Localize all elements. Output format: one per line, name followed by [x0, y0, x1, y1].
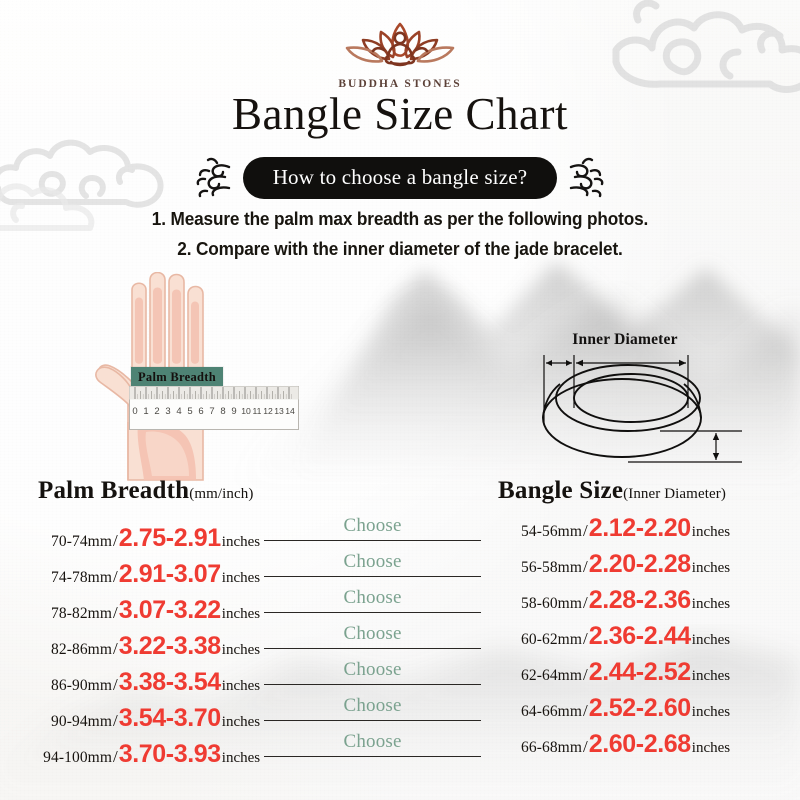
palm-breadth-table: Palm Breadth(mm/inch) 70-74mm/2.75-2.91i…	[26, 477, 481, 768]
row-mm-range: 56-58mm	[498, 559, 582, 577]
row-inch-unit: inches	[691, 704, 730, 721]
table-row: 62-64mm/2.44-2.52inches	[498, 660, 788, 696]
table-row: 56-58mm/2.20-2.28inches	[498, 552, 788, 588]
row-inch-range: 2.52-2.60	[589, 696, 691, 721]
row-inch-unit: inches	[691, 632, 730, 649]
row-inch-unit: inches	[221, 606, 260, 623]
choose-connector[interactable]: Choose	[264, 660, 481, 690]
row-mm-range: 66-68mm	[498, 739, 582, 757]
connector-line	[264, 684, 481, 685]
bangle-size-rows: 54-56mm/2.12-2.20inches56-58mm/2.20-2.28…	[498, 516, 788, 768]
row-inch-range: 2.75-2.91	[119, 526, 221, 551]
row-mm-range: 62-64mm	[498, 667, 582, 685]
row-separator: /	[112, 603, 119, 623]
choose-button[interactable]: Choose	[343, 695, 401, 717]
table-row[interactable]: 78-82mm/3.07-3.22inchesChoose	[26, 588, 481, 624]
connector-line	[264, 720, 481, 721]
svg-text:8: 8	[220, 406, 225, 417]
svg-text:2: 2	[154, 406, 159, 417]
row-mm-range: 70-74mm	[26, 533, 112, 551]
row-inch-range: 2.20-2.28	[589, 552, 691, 577]
row-separator: /	[582, 557, 589, 577]
choose-connector[interactable]: Choose	[264, 696, 481, 726]
row-inch-range: 3.07-3.22	[119, 598, 221, 623]
row-inch-range: 3.54-3.70	[119, 706, 221, 731]
instructions: 1. Measure the palm max breadth as per t…	[0, 204, 800, 264]
table-row[interactable]: 74-78mm/2.91-3.07inchesChoose	[26, 552, 481, 588]
brand-logo: BUDDHA STONES	[0, 14, 800, 90]
svg-text:9: 9	[231, 406, 236, 417]
table-row[interactable]: 90-94mm/3.54-3.70inchesChoose	[26, 696, 481, 732]
bangle-ring-icon	[500, 330, 750, 475]
svg-text:14: 14	[285, 406, 295, 416]
palm-breadth-header: Palm Breadth(mm/inch)	[26, 477, 481, 505]
row-mm-range: 54-56mm	[498, 523, 582, 541]
palm-breadth-header-sub: (mm/inch)	[189, 486, 253, 502]
row-mm-range: 78-82mm	[26, 605, 112, 623]
connector-line	[264, 612, 481, 613]
choose-connector[interactable]: Choose	[264, 552, 481, 582]
palm-breadth-header-main: Palm Breadth	[38, 477, 189, 504]
row-inch-unit: inches	[221, 534, 260, 551]
svg-text:12: 12	[263, 406, 273, 416]
row-inch-range: 3.70-3.93	[119, 742, 221, 767]
instruction-line-1: 1. Measure the palm max breadth as per t…	[28, 204, 772, 234]
row-inch-unit: inches	[221, 570, 260, 587]
svg-text:0: 0	[132, 406, 137, 417]
bangle-size-header-sub: (Inner Diameter)	[623, 486, 726, 502]
table-row: 58-60mm/2.28-2.36inches	[498, 588, 788, 624]
choose-connector[interactable]: Choose	[264, 588, 481, 618]
table-row: 54-56mm/2.12-2.20inches	[498, 516, 788, 552]
row-mm-range: 94-100mm	[26, 749, 112, 767]
choose-button[interactable]: Choose	[343, 731, 401, 753]
svg-text:7: 7	[209, 406, 214, 417]
bangle-size-header: Bangle Size(Inner Diameter)	[498, 477, 788, 505]
choose-button[interactable]: Choose	[343, 515, 401, 537]
row-separator: /	[112, 711, 119, 731]
svg-text:3: 3	[165, 406, 170, 417]
row-inch-unit: inches	[691, 524, 730, 541]
row-separator: /	[582, 629, 589, 649]
choose-connector[interactable]: Choose	[264, 732, 481, 762]
row-mm-range: 86-90mm	[26, 677, 112, 695]
row-mm-range: 82-86mm	[26, 641, 112, 659]
row-separator: /	[582, 737, 589, 757]
table-row: 66-68mm/2.60-2.68inches	[498, 732, 788, 768]
row-inch-unit: inches	[691, 668, 730, 685]
svg-text:13: 13	[274, 406, 284, 416]
row-mm-range: 64-66mm	[498, 703, 582, 721]
connector-line	[264, 648, 481, 649]
banner-row: How to choose a bangle size?	[0, 155, 800, 201]
svg-text:1: 1	[143, 406, 148, 417]
row-mm-range: 74-78mm	[26, 569, 112, 587]
svg-text:10: 10	[241, 406, 251, 416]
size-tables: Palm Breadth(mm/inch) 70-74mm/2.75-2.91i…	[0, 477, 800, 797]
row-mm-range: 90-94mm	[26, 713, 112, 731]
svg-text:6: 6	[198, 406, 203, 417]
table-row[interactable]: 82-86mm/3.22-3.38inchesChoose	[26, 624, 481, 660]
choose-connector[interactable]: Choose	[264, 624, 481, 654]
row-inch-unit: inches	[691, 740, 730, 757]
flourish-ornament-icon-left	[195, 155, 235, 201]
page-title: Bangle Size Chart	[0, 88, 800, 140]
svg-text:4: 4	[176, 406, 181, 417]
bangle-size-table: Bangle Size(Inner Diameter) 54-56mm/2.12…	[498, 477, 788, 768]
banner-text: How to choose a bangle size?	[243, 157, 558, 199]
choose-button[interactable]: Choose	[343, 659, 401, 681]
row-separator: /	[112, 639, 119, 659]
svg-text:11: 11	[253, 406, 262, 416]
row-separator: /	[112, 675, 119, 695]
ruler-icon: 012 345 678 910 1112 1314	[129, 386, 299, 430]
palm-breadth-rows: 70-74mm/2.75-2.91inchesChoose74-78mm/2.9…	[26, 516, 481, 768]
instruction-line-2: 2. Compare with the inner diameter of th…	[28, 234, 772, 264]
row-mm-range: 60-62mm	[498, 631, 582, 649]
choose-button[interactable]: Choose	[343, 551, 401, 573]
row-inch-range: 3.38-3.54	[119, 670, 221, 695]
row-inch-range: 2.91-3.07	[119, 562, 221, 587]
bangle-size-header-main: Bangle Size	[498, 477, 623, 504]
row-mm-range: 58-60mm	[498, 595, 582, 613]
table-row[interactable]: 86-90mm/3.38-3.54inchesChoose	[26, 660, 481, 696]
table-row[interactable]: 70-74mm/2.75-2.91inchesChoose	[26, 516, 481, 552]
row-separator: /	[582, 701, 589, 721]
row-inch-unit: inches	[691, 560, 730, 577]
connector-line	[264, 756, 481, 757]
choose-connector[interactable]: Choose	[264, 516, 481, 546]
row-inch-range: 2.28-2.36	[589, 588, 691, 613]
connector-line	[264, 576, 481, 577]
row-inch-unit: inches	[691, 596, 730, 613]
row-separator: /	[582, 521, 589, 541]
row-inch-range: 2.60-2.68	[589, 732, 691, 757]
row-inch-range: 3.22-3.38	[119, 634, 221, 659]
row-separator: /	[582, 593, 589, 613]
row-separator: /	[582, 665, 589, 685]
row-inch-range: 2.44-2.52	[589, 660, 691, 685]
row-inch-unit: inches	[221, 678, 260, 695]
row-inch-unit: inches	[221, 714, 260, 731]
table-row: 64-66mm/2.52-2.60inches	[498, 696, 788, 732]
row-inch-range: 2.12-2.20	[589, 516, 691, 541]
row-separator: /	[112, 747, 119, 767]
table-row[interactable]: 94-100mm/3.70-3.93inchesChoose	[26, 732, 481, 768]
lotus-meditation-icon	[335, 14, 465, 72]
row-inch-unit: inches	[221, 750, 260, 767]
table-row: 60-62mm/2.36-2.44inches	[498, 624, 788, 660]
choose-button[interactable]: Choose	[343, 587, 401, 609]
row-inch-unit: inches	[221, 642, 260, 659]
connector-line	[264, 540, 481, 541]
row-separator: /	[112, 531, 119, 551]
choose-button[interactable]: Choose	[343, 623, 401, 645]
svg-text:5: 5	[187, 406, 192, 417]
row-inch-range: 2.36-2.44	[589, 624, 691, 649]
flourish-ornament-icon-right	[565, 155, 605, 201]
row-separator: /	[112, 567, 119, 587]
